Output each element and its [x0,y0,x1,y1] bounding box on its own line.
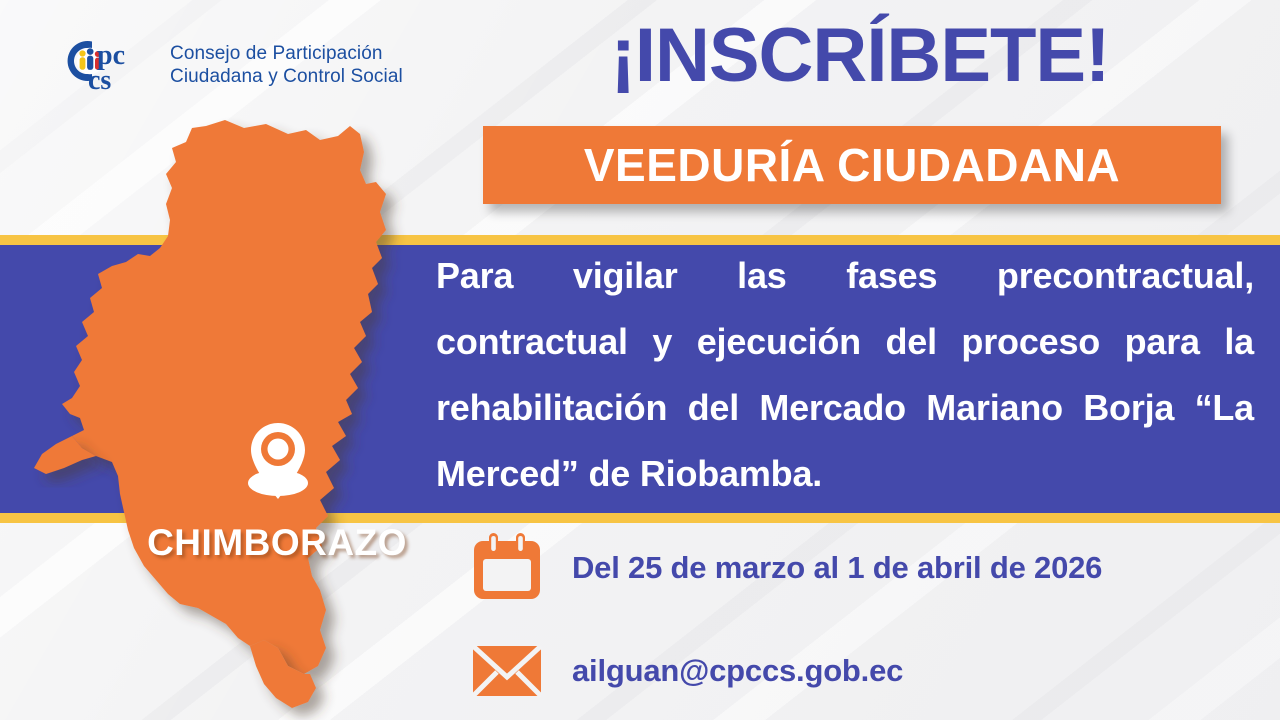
page-title: ¡INSCRÍBETE! [470,18,1250,94]
chimborazo-map-shape [20,118,440,718]
cpccs-logo-mark: pc cs [62,34,158,96]
envelope-glyph [468,634,546,708]
veeduria-banner-label: VEEDURÍA CIUDADANA [584,142,1120,188]
envelope-icon [468,634,546,708]
date-row: Del 25 de marzo al 1 de abril de 2026 [468,531,1102,605]
chimborazo-map: CHIMBORAZO [20,118,440,718]
calendar-icon [468,531,546,605]
date-text: Del 25 de marzo al 1 de abril de 2026 [572,550,1102,586]
veeduria-banner: VEEDURÍA CIUDADANA [483,126,1221,204]
cpccs-logo-text: Consejo de Participación Ciudadana y Con… [170,42,403,88]
cpccs-logo: pc cs Consejo de Participación Ciudadana… [62,34,403,96]
location-pin-icon [242,421,314,501]
email-row[interactable]: ailguan@cpccs.gob.ec [468,634,903,708]
poster-canvas: pc cs Consejo de Participación Ciudadana… [0,0,1280,720]
province-label: CHIMBORAZO [142,522,412,564]
svg-text:cs: cs [88,65,111,96]
description-paragraph: Para vigilar las fases precontractual, c… [436,243,1254,507]
calendar-glyph [468,531,546,605]
location-pin-glyph [242,421,314,501]
email-text[interactable]: ailguan@cpccs.gob.ec [572,653,903,689]
